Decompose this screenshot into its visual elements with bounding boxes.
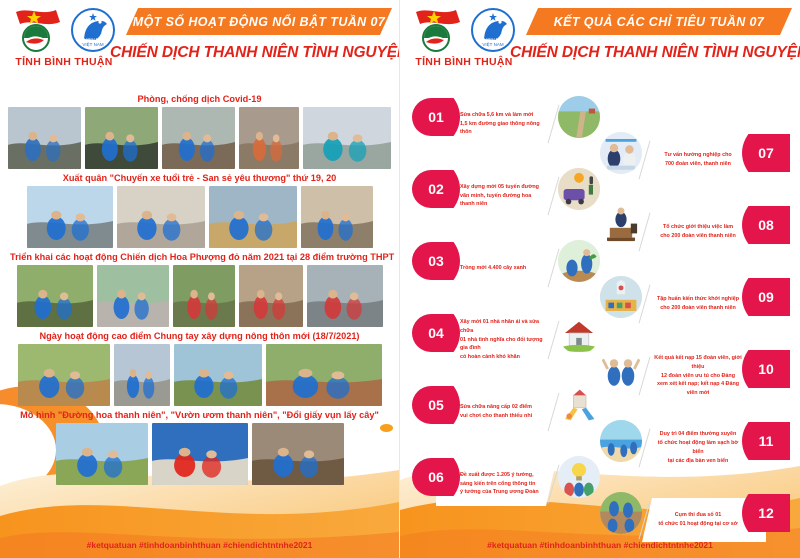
indicator-number-badge: 03 [412,242,460,280]
photo-banner-event [152,423,248,485]
section-title: Mô hình "Đường hoa thanh niên", "Vườn ươ… [10,406,389,423]
indicator-text-line: 700 đoàn viên, thanh niên [652,160,744,169]
indicator-text-line: tổ chức 01 hoạt động tại cơ sở [652,520,744,529]
indicator-text: Tổ chức giới thiệu việc làmcho 200 đoàn … [652,223,744,241]
indicator-number-badge: 06 [412,458,460,496]
section-title: Ngày hoạt động cao điểm Chung tay xây dự… [10,327,389,344]
logo-group-right: THANH NIÊN VIỆT NAM TỈNH BÌNH THUẬN [408,6,520,68]
indicator-text-line: Duy trì 04 điểm thường xuyên [652,430,744,439]
playground-icon [558,384,600,426]
indicator-text-line: Xây mới 01 nhà nhân ái và sửa chữa [460,318,546,336]
street-scene-icon [558,168,600,210]
right-banner-text: KẾT QUẢ CÁC CHỈ TIÊU TUẦN 07 [554,15,765,29]
indicator-text-line: ý tưởng của Trung ương Đoàn [460,488,546,497]
svg-text:VIỆT NAM: VIỆT NAM [82,40,103,47]
indicator-text-line: có hoàn cảnh khó khăn [460,353,546,362]
indicator-text-line: thanh niên [460,200,546,209]
photo-indoor-packing [117,186,205,248]
right-header: THANH NIÊN VIỆT NAM TỈNH BÌNH THUẬN KẾT … [400,0,800,88]
two-members-icon [600,348,642,390]
doan-tncs-logo-icon [412,6,466,54]
photo-seedling-nursery [252,423,344,485]
photo-row [10,186,389,248]
job-fair-icon [600,204,642,246]
section-title: Phòng, chống dịch Covid-19 [10,90,389,107]
doan-tncs-logo-icon [12,6,66,54]
photo-gift-to-elder [301,186,373,248]
indicator-item: Xây dựng mới 05 tuyến đườngvăn minh, tuy… [406,164,602,226]
photo-stacking-boxes [209,186,297,248]
rural-road-icon [558,96,600,138]
indicator-item: Xây mới 01 nhà nhân ái và sửa chữa01 nhà… [406,308,602,370]
indicator-number-badge: 04 [412,314,460,352]
photo-loading-truck [27,186,113,248]
indicator-text: Tập huấn kiến thức khởi nghiệpcho 200 đo… [652,295,744,313]
photo-row [10,423,389,485]
photo-row [10,265,389,327]
photo-row [10,344,389,406]
section-title: Xuất quân "Chuyến xe tuổi trẻ - San sẻ y… [10,169,389,186]
indicator-text-line: Cụm thi đua số 01 [652,511,744,520]
svg-text:VIỆT NAM: VIỆT NAM [482,40,503,47]
section-title: Triển khai các hoạt động Chiến dịch Hoa … [10,248,389,265]
left-hashtags: #ketquatuan #tinhdoanbinhthuan #chiendic… [0,540,399,550]
indicator-column-right: Tư vấn hướng nghiệp cho700 đoàn viên, th… [598,128,796,558]
photo-checkpoint-covid [8,107,81,169]
left-panel: THANH NIÊN VIỆT NAM TỈNH BÌNH THUẬN MỘT … [0,0,400,558]
indicator-text-line: cho 200 đoàn viên thanh niên [652,232,744,241]
photo-field-planting [18,344,110,406]
indicator-text: Cụm thi đua số 01tổ chức 01 hoạt động tạ… [652,511,744,529]
indicator-number-badge: 07 [742,134,790,172]
startup-training-icon [600,276,642,318]
province-name: TỈNH BÌNH THUẬN [8,56,120,68]
left-sections: Phòng, chống dịch Covid-19Xuất quân "Chu… [0,88,399,485]
house-icon [558,312,600,354]
indicator-text: Sửa chữa nâng cấp 02 điểmvui chơi cho th… [460,403,546,421]
indicator-text-line: Trồng mới 4.400 cây xanh [460,264,546,273]
indicator-text: Duy trì 04 điểm thường xuyêntổ chức hoạt… [652,430,744,466]
photo-group-photo [174,344,262,406]
indicator-text-line: tại các địa bàn ven biển [652,457,744,466]
photo-gift-handover [85,107,158,169]
indicator-text-line: cho 200 đoàn viên thanh niên [652,304,744,313]
indicator-column-left: Sửa chữa 5,6 km và làm mới1,5 km đường g… [406,92,602,524]
indicator-text-line: 12 đoàn viên ưu tú cho Đảng [652,372,744,381]
indicator-item: Duy trì 04 điểm thường xuyêntổ chức hoạt… [598,416,796,478]
career-counseling-icon [600,132,642,174]
right-hashtags: #ketquatuan #tinhdoanbinhthuan #chiendic… [400,540,800,550]
photo-row [10,107,389,169]
indicator-text-line: Tư vấn hướng nghiệp cho [652,151,744,160]
indicator-text-line: Đề xuất được 1.205 ý tưởng, [460,471,546,480]
left-subtitle: CHIẾN DỊCH THANH NIÊN TÌNH NGUYỆN HÈ 202… [110,44,398,62]
indicator-number-badge: 11 [742,422,790,460]
svg-text:THANH NIÊN: THANH NIÊN [479,35,507,42]
indicator-number-badge: 02 [412,170,460,208]
indicator-number-badge: 05 [412,386,460,424]
photo-pole-cleaning [114,344,170,406]
indicator-number-badge: 09 [742,278,790,316]
indicator-text-line: văn minh, tuyến đường hoa [460,192,546,201]
idea-bulb-icon [558,456,600,498]
photo-flower-road [56,423,148,485]
photo-planting-flowers [17,265,93,327]
indicator-item: Kết quả kết nạp 15 đoàn viên, giới thiệu… [598,344,796,406]
indicator-item: Tư vấn hướng nghiệp cho700 đoàn viên, th… [598,128,796,190]
indicator-text: Xây dựng mới 05 tuyến đườngvăn minh, tuy… [460,183,546,210]
indicator-item: Tổ chức giới thiệu việc làmcho 200 đoàn … [598,200,796,262]
tree-planting-icon [558,240,600,282]
indicator-item: Đề xuất được 1.205 ý tưởng,sáng kiến trê… [406,452,602,514]
logo-group: THANH NIÊN VIỆT NAM TỈNH BÌNH THUẬN [8,6,120,68]
beach-cleanup-icon [600,420,642,462]
photo-road-cleanup [97,265,169,327]
svg-text:THANH NIÊN: THANH NIÊN [79,35,107,42]
community-activity-icon [600,492,642,534]
photo-supply-delivery [162,107,235,169]
indicator-number-badge: 08 [742,206,790,244]
photo-digging-soil [266,344,382,406]
photo-garden-work [173,265,235,327]
indicator-item: Tập huấn kiến thức khởi nghiệpcho 200 đo… [598,272,796,334]
indicator-text: Đề xuất được 1.205 ý tưởng,sáng kiến trê… [460,471,546,498]
photo-medical-team [303,107,391,169]
province-name: TỈNH BÌNH THUẬN [408,56,520,68]
right-banner: KẾT QUẢ CÁC CHỈ TIÊU TUẦN 07 [526,8,792,35]
indicator-text-line: Xây dựng mới 05 tuyến đường [460,183,546,192]
indicator-item: Trồng mới 4.400 cây xanh03 [406,236,602,298]
indicator-text: Tư vấn hướng nghiệp cho700 đoàn viên, th… [652,151,744,169]
indicator-text-line: Tổ chức giới thiệu việc làm [652,223,744,232]
indicator-item: Sửa chữa 5,6 km và làm mới1,5 km đường g… [406,92,602,154]
indicator-text: Kết quả kết nạp 15 đoàn viên, giới thiệu… [652,354,744,399]
indicator-text-line: tổ chức hoạt động làm sạch bờ biển [652,439,744,457]
indicator-text-line: vui chơi cho thanh thiếu nhi [460,412,546,421]
indicator-text-line: 01 nhà tình nghĩa cho đối tượng gia đình [460,336,546,354]
photo-household-visit [239,107,299,169]
left-header: THANH NIÊN VIỆT NAM TỈNH BÌNH THUẬN MỘT … [0,0,399,88]
photo-market-support [239,265,303,327]
indicator-text-line: xem xét kết nạp; kết nạp 4 Đảng viên mới [652,380,744,398]
right-panel: THANH NIÊN VIỆT NAM TỈNH BÌNH THUẬN KẾT … [400,0,800,558]
indicator-number-badge: 10 [742,350,790,388]
indicator-text-line: Sửa chữa nâng cấp 02 điểm [460,403,546,412]
indicator-items: Sửa chữa 5,6 km và làm mới1,5 km đường g… [400,88,800,536]
indicator-text-line: Tập huấn kiến thức khởi nghiệp [652,295,744,304]
indicator-item: Sửa chữa nâng cấp 02 điểmvui chơi cho th… [406,380,602,442]
indicator-number-badge: 01 [412,98,460,136]
indicator-text: Trồng mới 4.400 cây xanh [460,264,546,273]
photo-street-help [307,265,383,327]
left-banner: MỘT SỐ HOẠT ĐỘNG NỔI BẬT TUẦN 07 [126,8,392,35]
indicator-text: Sửa chữa 5,6 km và làm mới1,5 km đường g… [460,111,546,138]
infographic-poster: THANH NIÊN VIỆT NAM TỈNH BÌNH THUẬN MỘT … [0,0,800,558]
indicator-text-line: Kết quả kết nạp 15 đoàn viên, giới thiệu [652,354,744,372]
right-subtitle: CHIẾN DỊCH THANH NIÊN TÌNH NGUYỆN HÈ 202… [510,44,798,62]
left-banner-text: MỘT SỐ HOẠT ĐỘNG NỔI BẬT TUẦN 07 [133,15,385,29]
indicator-text-line: 1,5 km đường giao thông nông thôn [460,120,546,138]
indicator-text-line: Sửa chữa 5,6 km và làm mới [460,111,546,120]
indicator-number-badge: 12 [742,494,790,532]
indicator-text-line: sáng kiến trên cổng thông tin [460,480,546,489]
indicator-text: Xây mới 01 nhà nhân ái và sửa chữa01 nhà… [460,318,546,363]
